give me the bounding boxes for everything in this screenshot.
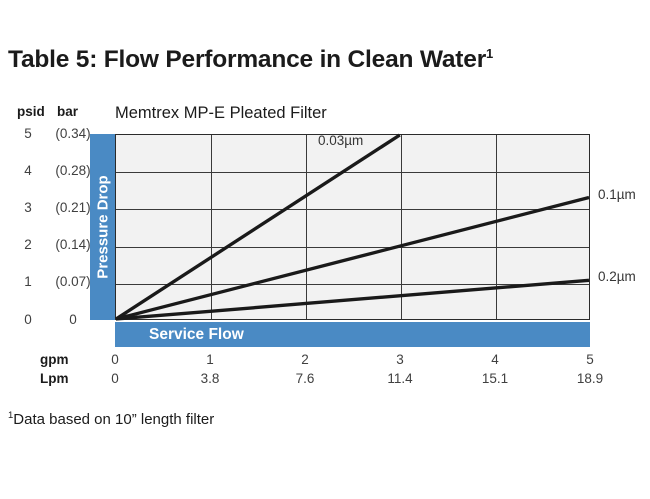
y-tick-psid: 4 <box>16 163 40 178</box>
x-tick-lpm: 0 <box>85 371 145 386</box>
x-axis-row-gpm: gpm 0 1 2 3 4 5 <box>0 352 650 370</box>
curve-line-0-03um <box>116 135 400 319</box>
x-axis-unit-lpm: Lpm <box>40 371 86 386</box>
pressure-drop-axis-label: Pressure Drop <box>95 175 112 278</box>
plot-area <box>115 134 590 320</box>
x-tick-gpm: 1 <box>180 352 240 367</box>
curve-label-0-2um: 0.2µm <box>598 269 636 284</box>
y-tick-psid: 1 <box>16 274 40 289</box>
x-tick-gpm: 4 <box>465 352 525 367</box>
y-tick-psid: 0 <box>16 312 40 327</box>
curve-lines-group <box>116 135 589 319</box>
x-tick-lpm: 11.4 <box>370 371 430 386</box>
y-axis-unit-bar: bar <box>57 104 78 119</box>
y-tick-psid: 2 <box>16 237 40 252</box>
x-tick-lpm: 3.8 <box>180 371 240 386</box>
x-tick-gpm: 2 <box>275 352 335 367</box>
service-flow-axis-label: Service Flow <box>149 326 244 344</box>
y-axis-unit-psid: psid <box>17 104 45 119</box>
y-tick-psid: 3 <box>16 200 40 215</box>
x-tick-gpm: 3 <box>370 352 430 367</box>
pressure-drop-axis-band: Pressure Drop <box>90 134 116 320</box>
x-tick-lpm: 15.1 <box>465 371 525 386</box>
x-tick-lpm: 18.9 <box>560 371 620 386</box>
curve-label-0-1um: 0.1µm <box>598 187 636 202</box>
y-tick-psid: 5 <box>16 126 40 141</box>
x-axis-row-lpm: Lpm 0 3.8 7.6 11.4 15.1 18.9 <box>0 371 650 389</box>
x-tick-gpm: 5 <box>560 352 620 367</box>
footnote-text: Data based on 10” length filter <box>13 411 214 428</box>
curve-label-0-03um: 0.03µm <box>318 133 363 148</box>
x-tick-lpm: 7.6 <box>275 371 335 386</box>
chart-title: Memtrex MP-E Pleated Filter <box>115 104 327 123</box>
x-tick-gpm: 0 <box>85 352 145 367</box>
service-flow-axis-band: Service Flow <box>115 322 590 347</box>
footnote: 1Data based on 10” length filter <box>8 410 214 428</box>
x-axis-unit-gpm: gpm <box>40 352 86 367</box>
